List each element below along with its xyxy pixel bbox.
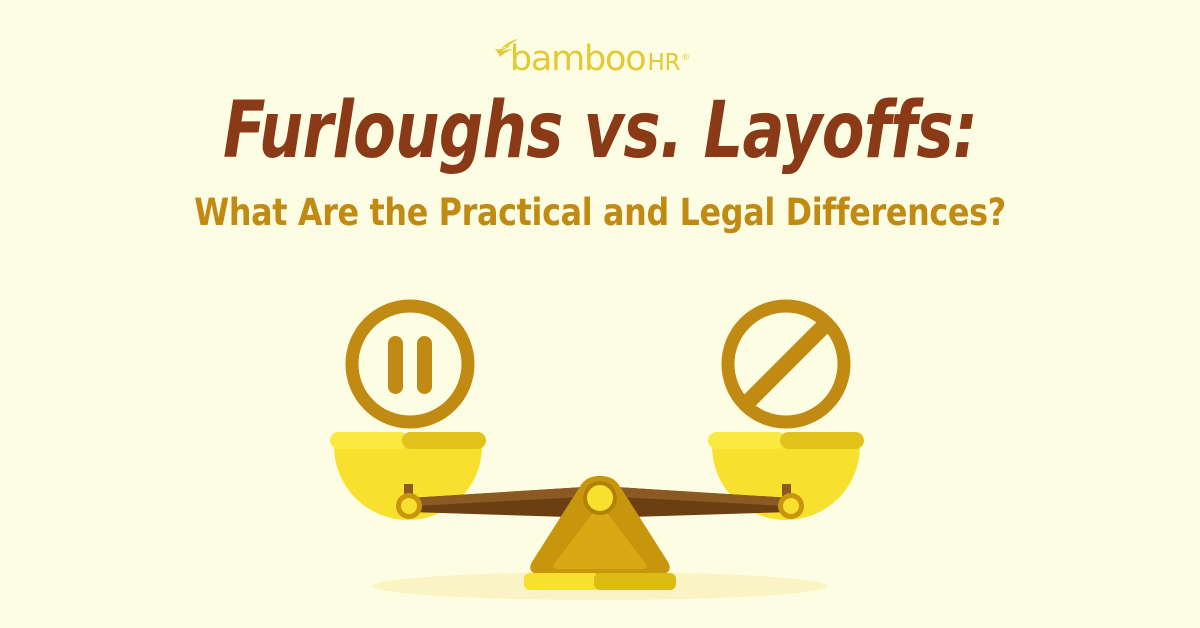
scale-svg [0, 280, 1200, 610]
beam-knob-right [778, 493, 804, 519]
balance-scale-illustration [0, 280, 1200, 610]
page-title: Furloughs vs. Layoffs: [120, 92, 1080, 170]
scale-base [524, 573, 676, 590]
banner-canvas: bamboo HR ® Furloughs vs. Layoffs: What … [0, 0, 1200, 628]
bamboohr-logo: bamboo HR ® [0, 36, 1200, 82]
logo-wordmark: bamboo [510, 42, 646, 77]
prohibition-circle-slash-icon [728, 306, 844, 422]
beam-knob-left [396, 493, 422, 519]
logo-hr-suffix: HR [647, 52, 680, 75]
pause-circle-icon [352, 306, 468, 422]
logo-trademark: ® [681, 54, 690, 63]
logo-lockup: bamboo HR ® [510, 42, 690, 77]
page-subtitle: What Are the Practical and Legal Differe… [84, 194, 1116, 231]
fulcrum-pivot [587, 485, 613, 511]
